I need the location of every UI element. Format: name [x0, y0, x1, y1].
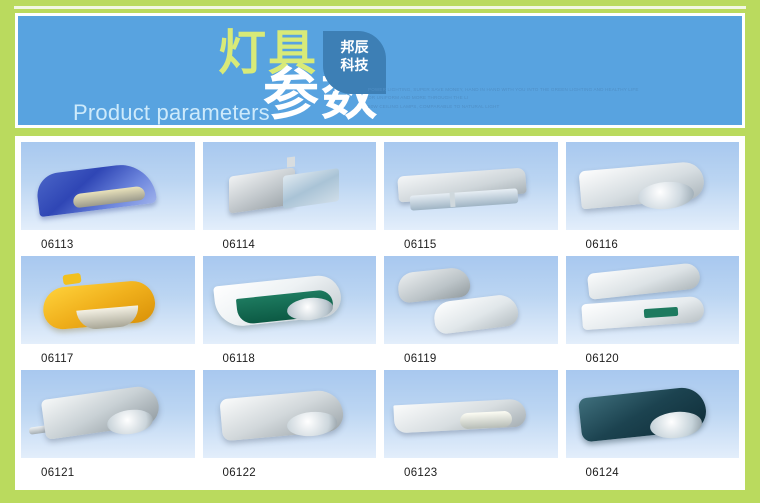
product-cell[interactable]: 06119: [384, 256, 558, 370]
product-code: 06124: [566, 458, 740, 479]
product-cell[interactable]: 06123: [384, 370, 558, 484]
product-code: 06120: [566, 344, 740, 365]
product-thumbnail: [566, 142, 740, 230]
fine-print-line-2: OR UNIFORM AND MORE THROUGH THE LI: [368, 94, 698, 102]
top-divider-rule: [14, 6, 746, 9]
product-thumbnail: [21, 370, 195, 458]
product-cell[interactable]: 06120: [566, 256, 740, 370]
product-cell[interactable]: 06118: [203, 256, 377, 370]
header-banner-frame: Product parameters 灯具 参数 邦辰 科技 POWER LIG…: [15, 13, 745, 128]
fine-print-line-1: POWER LIGHTING, SUPER SAVE MONEY, HAND I…: [368, 86, 698, 94]
header-english-title: Product parameters: [73, 100, 270, 125]
product-cell[interactable]: 06117: [21, 256, 195, 370]
product-thumbnail: [203, 370, 377, 458]
product-cell[interactable]: 06124: [566, 370, 740, 484]
product-cell[interactable]: 06116: [566, 142, 740, 256]
product-thumbnail: [566, 370, 740, 458]
lamp-lens-shape: [283, 168, 339, 209]
product-thumbnail: [21, 142, 195, 230]
lamp-body-shape-upper: [397, 266, 472, 303]
product-code: 06117: [21, 344, 195, 365]
lamp-latch-shape: [287, 156, 295, 167]
lamp-divider-shape: [449, 192, 455, 207]
product-grid-panel: 06113 06114 06115: [15, 136, 745, 490]
product-code: 06119: [384, 344, 558, 365]
product-parameters-page: Product parameters 灯具 参数 邦辰 科技 POWER LIG…: [0, 0, 760, 503]
product-code: 06118: [203, 344, 377, 365]
product-code: 06122: [203, 458, 377, 479]
product-cell[interactable]: 06115: [384, 142, 558, 256]
product-code: 06123: [384, 458, 558, 479]
product-code: 06116: [566, 230, 740, 251]
lamp-clip-shape: [62, 273, 81, 285]
product-cell[interactable]: 06113: [21, 142, 195, 256]
product-code: 06115: [384, 230, 558, 251]
lamp-body-shape-lower: [432, 293, 519, 335]
product-thumbnail: [384, 142, 558, 230]
product-code: 06114: [203, 230, 377, 251]
lamp-body-shape-upper: [586, 262, 700, 300]
product-cell[interactable]: 06114: [203, 142, 377, 256]
product-code: 06121: [21, 458, 195, 479]
header-banner: Product parameters 灯具 参数 邦辰 科技 POWER LIG…: [18, 16, 742, 125]
brand-badge-label: 邦辰 科技: [323, 40, 386, 75]
product-thumbnail: [203, 142, 377, 230]
product-grid: 06113 06114 06115: [21, 142, 739, 484]
product-thumbnail: [566, 256, 740, 344]
fine-print-line-3: 50W CEILING LAMPS, COMPARABLE TO NATURAL…: [368, 103, 698, 111]
product-cell[interactable]: 06121: [21, 370, 195, 484]
product-cell[interactable]: 06122: [203, 370, 377, 484]
lamp-lens-shape: [460, 411, 513, 430]
product-code: 06113: [21, 230, 195, 251]
header-fine-print: POWER LIGHTING, SUPER SAVE MONEY, HAND I…: [368, 86, 698, 111]
product-thumbnail: [203, 256, 377, 344]
product-thumbnail: [21, 256, 195, 344]
product-thumbnail: [384, 370, 558, 458]
product-thumbnail: [384, 256, 558, 344]
lamp-body-shape-lower: [581, 296, 705, 330]
